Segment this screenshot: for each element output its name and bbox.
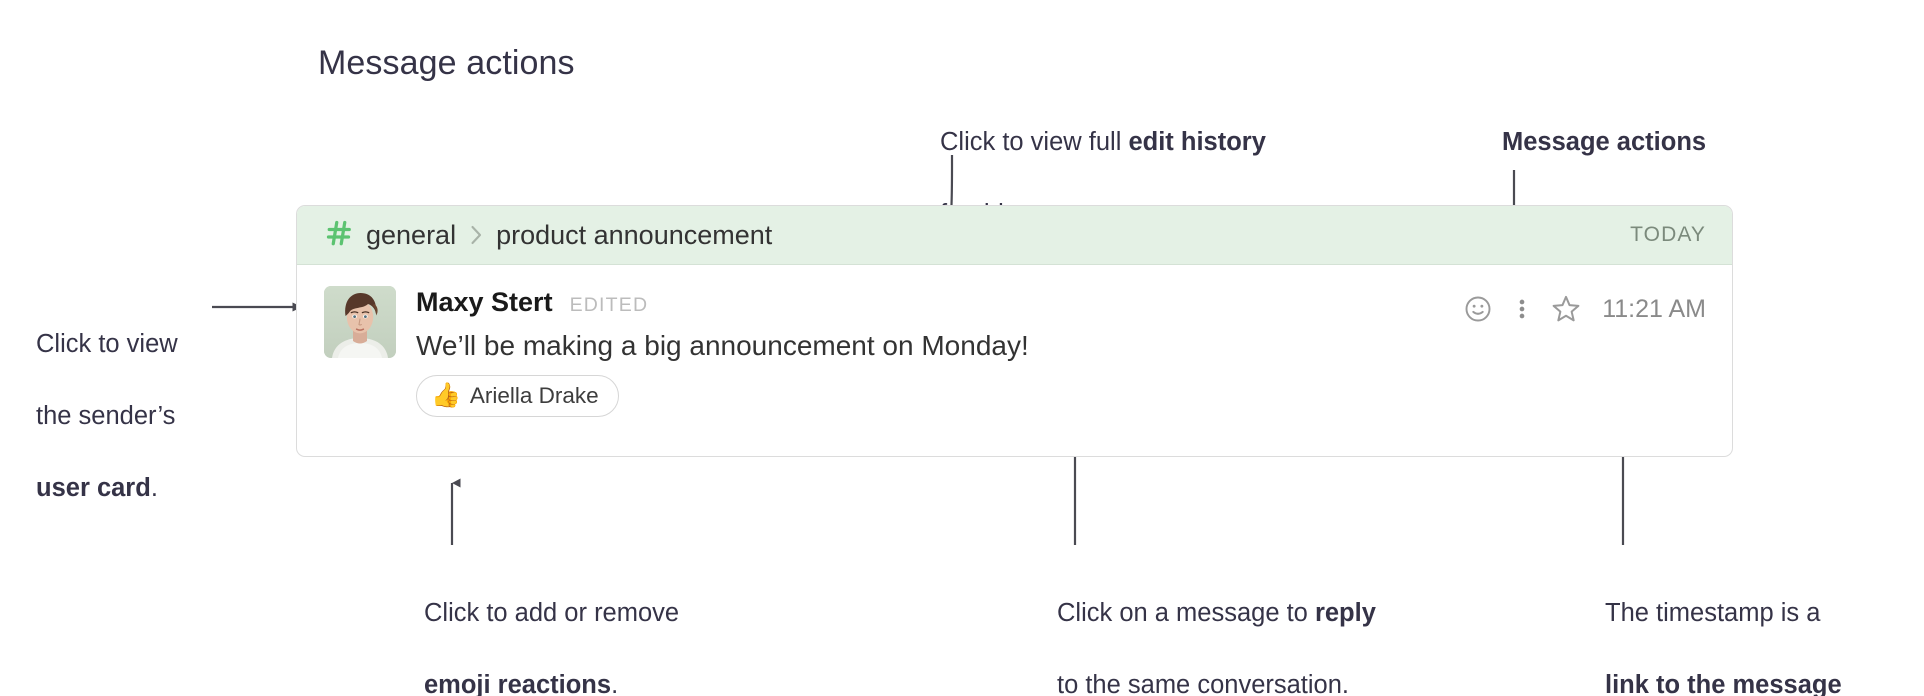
annotation-reply: Click on a message to reply to the same … [1057, 559, 1376, 696]
annotation-emphasis: reply [1315, 599, 1376, 627]
annotation-emphasis: Message actions [1502, 128, 1706, 156]
message-timestamp[interactable]: 11:21 AM [1602, 295, 1706, 324]
annotation-emphasis: edit history [1128, 128, 1265, 156]
annotation-emphasis: user card [36, 474, 151, 502]
date-label: TODAY [1630, 223, 1706, 247]
annotation-timestamp: The timestamp is a link to the message (… [1605, 559, 1842, 696]
reactions-row: 👍 Ariella Drake [416, 375, 1706, 417]
avatar[interactable] [324, 286, 396, 358]
reaction-label: Ariella Drake [470, 383, 599, 409]
page-root: Message actions [0, 0, 1924, 696]
annotation-emoji-reactions: Click to add or remove emoji reactions. [424, 559, 679, 696]
chevron-right-icon [470, 225, 483, 245]
message-row[interactable]: Maxy Stert EDITED We’ll be making a big … [297, 265, 1732, 417]
sender-name[interactable]: Maxy Stert [416, 287, 553, 318]
edited-label[interactable]: EDITED [570, 294, 649, 317]
annotation-text: Click to view [36, 326, 266, 362]
annotation-user-card: Click to view the sender’s user card. [36, 290, 266, 542]
annotation-text: . [611, 671, 618, 696]
annotation-text: to the same conversation. [1057, 667, 1376, 696]
annotation-text: the sender’s [36, 398, 266, 434]
page-title: Message actions [318, 44, 575, 83]
message-recipient-header: general product announcement TODAY [297, 206, 1732, 265]
message-controls: 11:21 AM [1456, 289, 1706, 329]
emoji-reaction-icon[interactable] [1456, 289, 1500, 329]
kebab-menu-icon[interactable] [1500, 289, 1544, 329]
star-icon[interactable] [1544, 289, 1588, 329]
stream-name[interactable]: general [366, 220, 456, 251]
annotation-text: The timestamp is a [1605, 595, 1842, 631]
thumbs-up-emoji: 👍 [431, 384, 461, 408]
topic-name[interactable]: product announcement [496, 220, 772, 251]
message-body[interactable]: We’ll be making a big announcement on Mo… [416, 330, 1706, 362]
annotation-text: . [151, 474, 158, 502]
message-card: general product announcement TODAY [296, 205, 1733, 457]
annotation-text: Click to view full [940, 128, 1128, 156]
annotation-text: Click to add or remove [424, 595, 679, 631]
hash-icon[interactable] [324, 218, 354, 253]
reaction-pill[interactable]: 👍 Ariella Drake [416, 375, 619, 417]
annotation-emphasis: emoji reactions [424, 671, 611, 696]
annotation-emphasis: link to the message [1605, 671, 1842, 696]
annotation-text: Click on a message to [1057, 599, 1315, 627]
